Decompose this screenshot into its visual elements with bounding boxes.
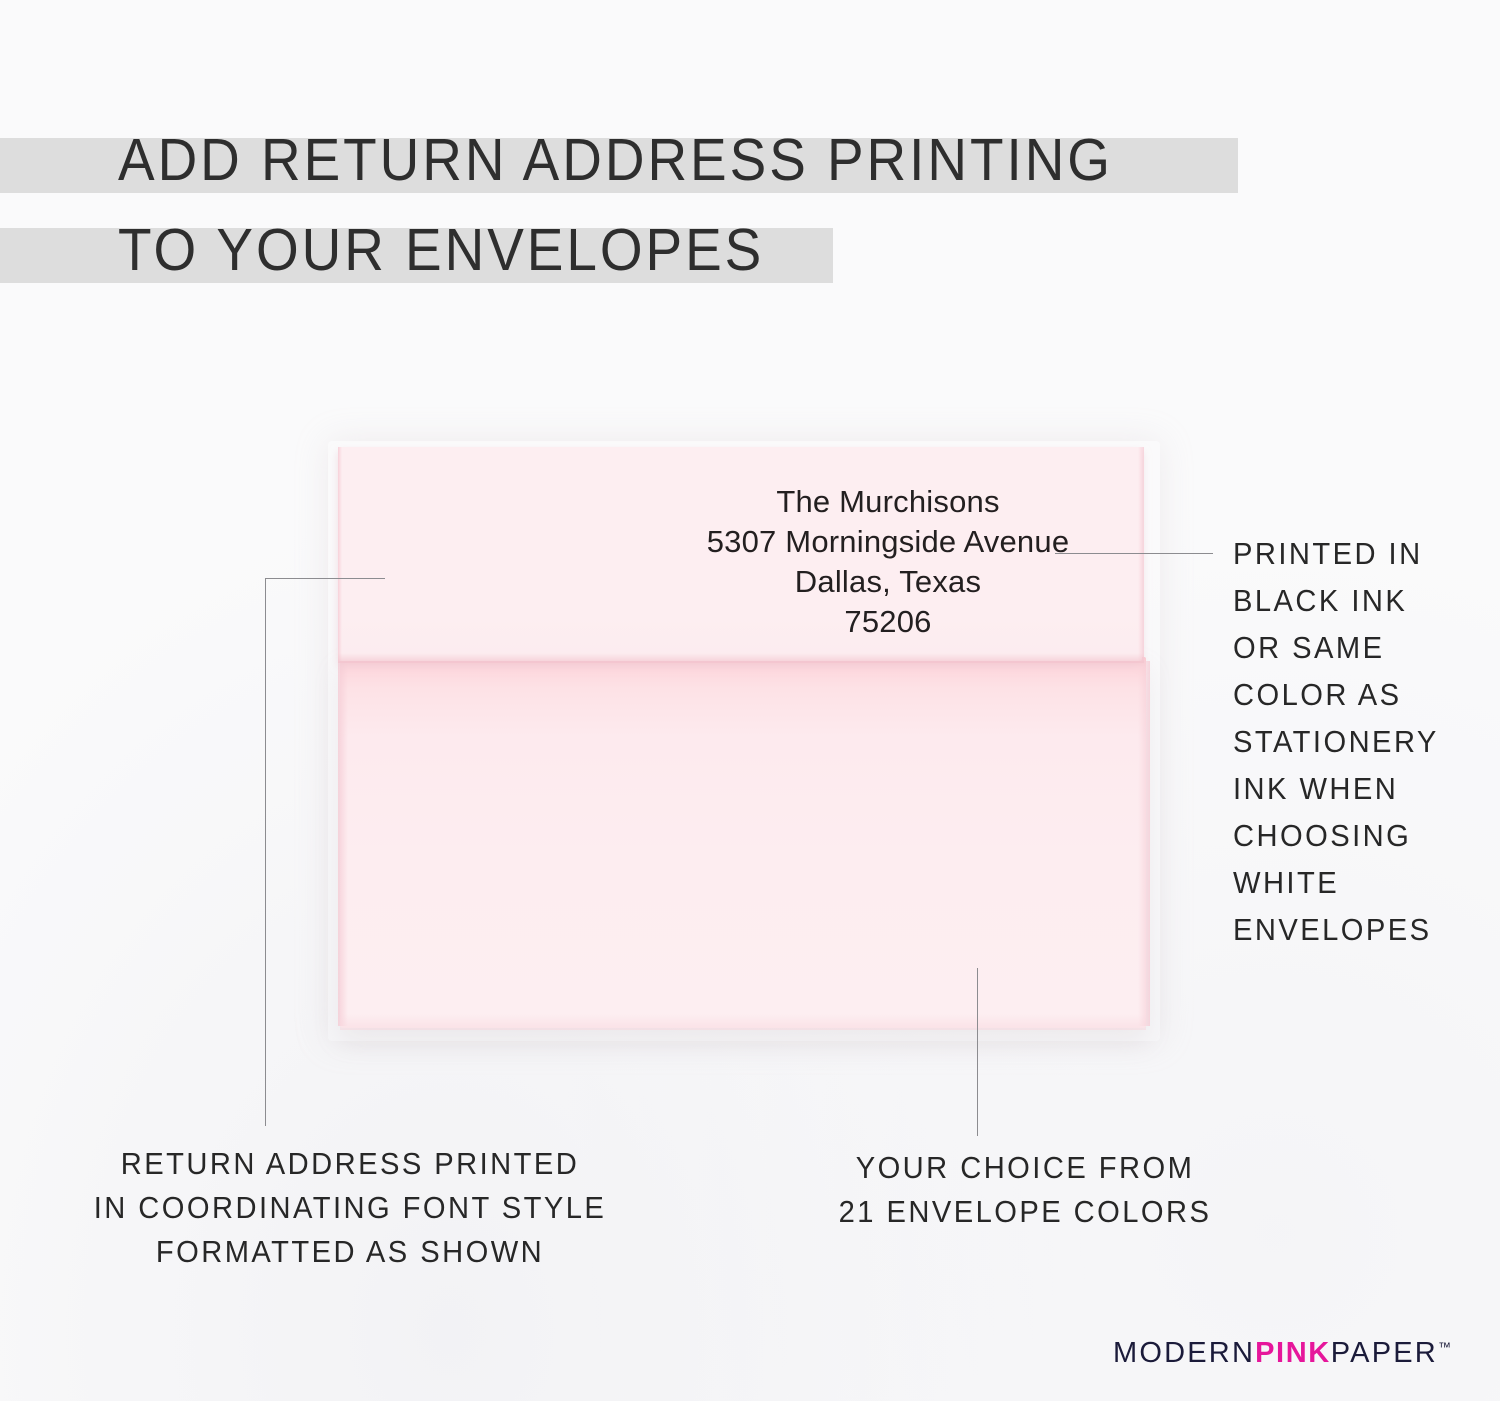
callout-printed-ink-line-2: BLACK INK	[1233, 577, 1439, 624]
callout-printed-ink-line-5: STATIONERY	[1233, 718, 1439, 765]
leader-line-left-vertical	[265, 578, 266, 1126]
leader-line-center-vertical	[977, 968, 978, 1136]
callout-return-address-font-line-1: RETURN ADDRESS PRINTED	[59, 1142, 642, 1186]
leader-line-left-horizontal	[265, 578, 385, 579]
callout-return-address-font-line-3: FORMATTED AS SHOWN	[59, 1230, 642, 1274]
callout-printed-ink-line-7: CHOOSING	[1233, 812, 1439, 859]
return-address-line-3: Dallas, Texas	[638, 562, 1138, 602]
logo-word-pink: PINK	[1255, 1337, 1331, 1369]
leader-line-right-horizontal	[1055, 553, 1213, 554]
return-address-line-2: 5307 Morningside Avenue	[638, 522, 1138, 562]
callout-printed-ink-line-3: OR SAME	[1233, 624, 1439, 671]
page-title: ADD RETURN ADDRESS PRINTING TO YOUR ENVE…	[0, 126, 1300, 306]
return-address-line-4: 75206	[638, 602, 1138, 642]
callout-return-address-font: RETURN ADDRESS PRINTED IN COORDINATING F…	[40, 1142, 660, 1274]
callout-printed-ink-line-1: PRINTED IN	[1233, 530, 1439, 577]
headline-row-2: TO YOUR ENVELOPES	[0, 216, 1300, 284]
product-marketing-image: ADD RETURN ADDRESS PRINTING TO YOUR ENVE…	[0, 0, 1500, 1401]
return-address-line-1: The Murchisons	[638, 482, 1138, 522]
envelope-flap-left-edge	[338, 447, 342, 661]
headline-line-1: ADD RETURN ADDRESS PRINTING	[118, 126, 1113, 194]
brand-logo: MODERNPINKPAPER™	[1113, 1337, 1451, 1370]
headline-line-2: TO YOUR ENVELOPES	[118, 216, 764, 284]
callout-envelope-colors-line-1: YOUR CHOICE FROM	[804, 1146, 1246, 1190]
return-address-block: The Murchisons 5307 Morningside Avenue D…	[638, 482, 1138, 642]
callout-printed-ink-line-8: WHITE	[1233, 859, 1439, 906]
callout-printed-ink: PRINTED IN BLACK INK OR SAME COLOR AS ST…	[1233, 530, 1452, 953]
trademark-symbol: ™	[1438, 1339, 1451, 1354]
callout-envelope-colors: YOUR CHOICE FROM 21 ENVELOPE COLORS	[790, 1146, 1260, 1234]
callout-printed-ink-line-4: COLOR AS	[1233, 671, 1439, 718]
envelope-flap-right-edge	[1138, 447, 1144, 661]
envelope-body	[340, 657, 1146, 1028]
callout-return-address-font-line-2: IN COORDINATING FONT STYLE	[59, 1186, 642, 1230]
headline-row-1: ADD RETURN ADDRESS PRINTING	[0, 126, 1300, 194]
callout-printed-ink-line-6: INK WHEN	[1233, 765, 1439, 812]
logo-word-modern: MODERN	[1113, 1337, 1255, 1369]
callout-printed-ink-line-9: ENVELOPES	[1233, 906, 1439, 953]
logo-word-paper: PAPER	[1331, 1337, 1438, 1369]
envelope-illustration: The Murchisons 5307 Morningside Avenue D…	[338, 447, 1150, 1030]
callout-envelope-colors-line-2: 21 ENVELOPE COLORS	[804, 1190, 1246, 1234]
